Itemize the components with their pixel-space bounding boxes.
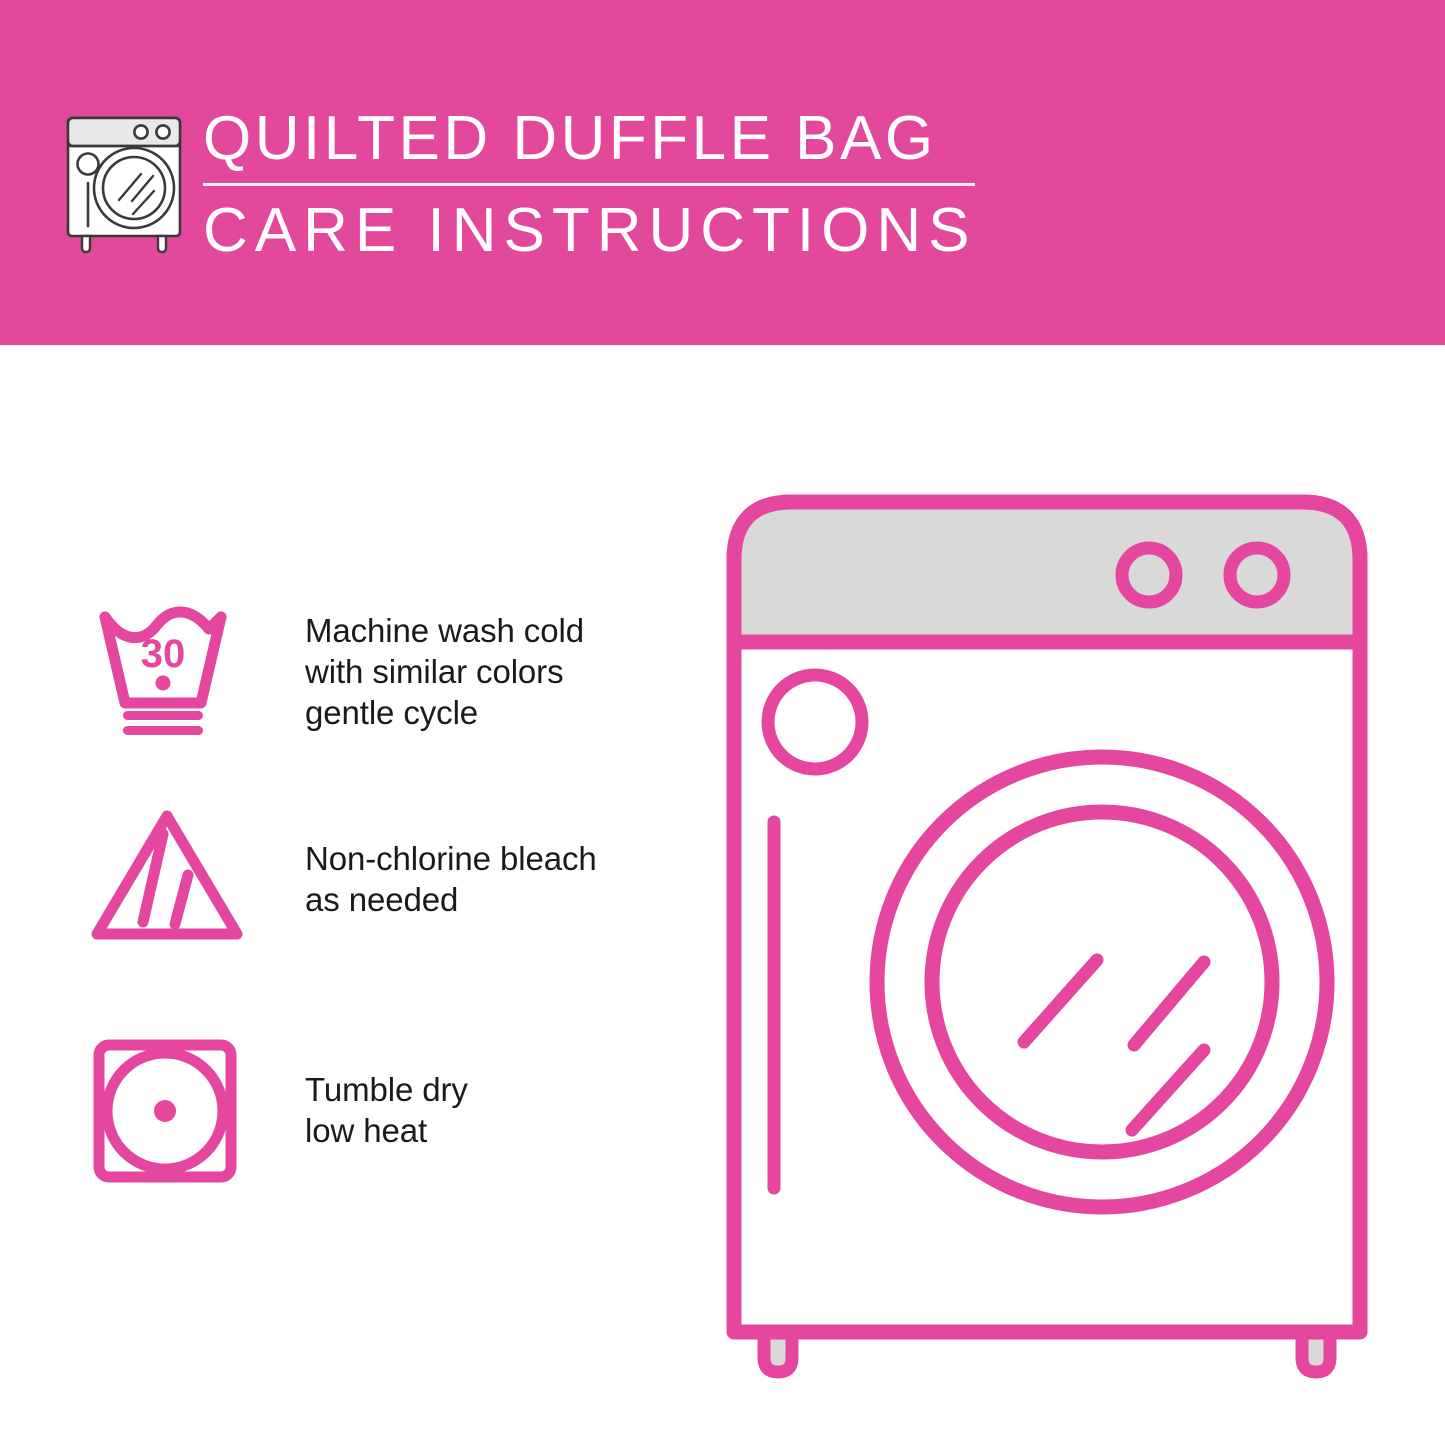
care-instruction-text: Non-chlorine bleach as needed — [305, 838, 597, 920]
care-text-line: as needed — [305, 879, 597, 920]
care-text-line: Tumble dry — [305, 1069, 468, 1110]
control-knob-2 — [1230, 548, 1284, 602]
header-divider — [203, 183, 975, 186]
non-chlorine-bleach-triangle-icon — [85, 800, 260, 950]
washing-machine-illustration — [712, 470, 1402, 1380]
care-row: Tumble dry low heat — [0, 1035, 680, 1185]
care-row: 30 Machine wash cold with similar colors… — [0, 595, 680, 745]
page-subtitle: CARE INSTRUCTIONS — [203, 195, 993, 267]
tumble-dry-low-heat-icon — [85, 1035, 260, 1185]
header-band: QUILTED DUFFLE BAG CARE INSTRUCTIONS — [0, 0, 1445, 345]
care-text-line: Machine wash cold — [305, 610, 584, 651]
wash-tub-30-gentle-icon: 30 — [85, 595, 260, 745]
washing-machine-icon — [58, 96, 190, 254]
care-text-line: with similar colors — [305, 651, 584, 692]
care-row: Non-chlorine bleach as needed — [0, 800, 680, 950]
care-text-line: gentle cycle — [305, 692, 584, 733]
svg-text:30: 30 — [141, 632, 186, 676]
control-knob-1 — [1122, 548, 1176, 602]
machine-button — [768, 675, 862, 769]
care-instruction-text: Tumble dry low heat — [305, 1069, 468, 1151]
machine-door-inner — [932, 812, 1272, 1152]
care-text-line: Non-chlorine bleach — [305, 838, 597, 879]
header-text-block: QUILTED DUFFLE BAG CARE INSTRUCTIONS — [203, 103, 993, 267]
page-title: QUILTED DUFFLE BAG — [203, 103, 993, 175]
care-instruction-text: Machine wash cold with similar colors ge… — [305, 610, 584, 733]
care-instructions-page: QUILTED DUFFLE BAG CARE INSTRUCTIONS 30 — [0, 0, 1445, 1445]
care-text-line: low heat — [305, 1110, 468, 1151]
